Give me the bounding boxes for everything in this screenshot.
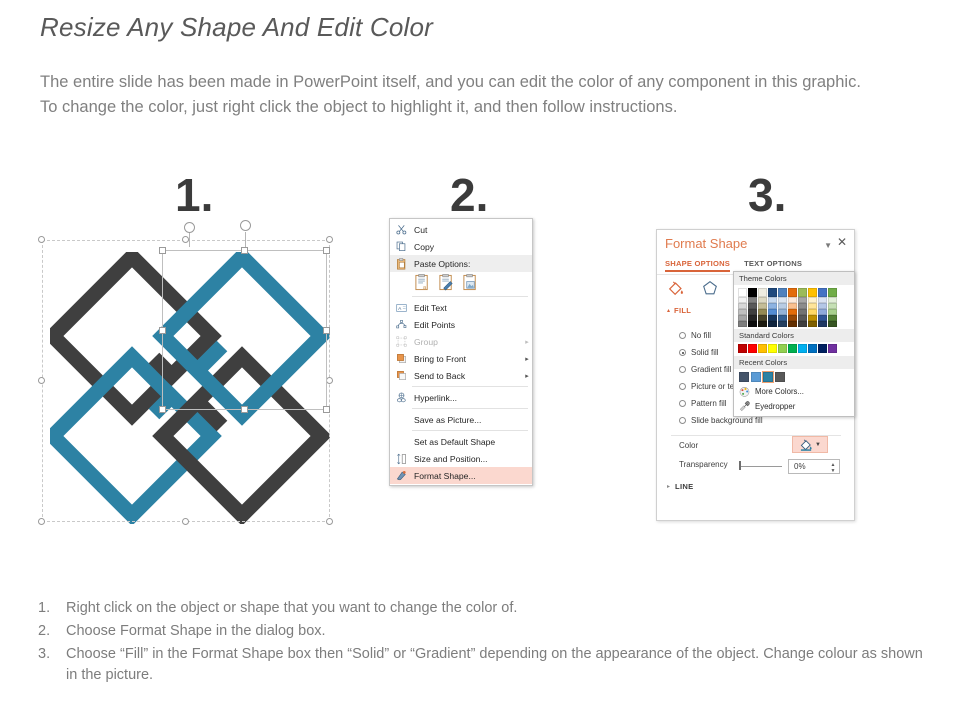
menu-item-label: Group xyxy=(414,337,522,347)
menu-item-bring-to-front[interactable]: Bring to Front ▸ xyxy=(390,350,532,367)
theme-color-column[interactable] xyxy=(828,288,837,327)
theme-colors-grid[interactable] xyxy=(734,285,854,329)
theme-color-column[interactable] xyxy=(738,288,747,327)
menu-item-edit-text[interactable]: A Edit Text xyxy=(390,299,532,316)
menu-item-group: Group ▸ xyxy=(390,333,532,350)
tab-shape-options[interactable]: SHAPE OPTIONS xyxy=(665,259,730,272)
fill-section-header[interactable]: ▴ FILL xyxy=(667,306,691,315)
color-swatch[interactable] xyxy=(808,344,817,353)
menu-separator xyxy=(412,386,528,387)
transparency-value: 0% xyxy=(794,462,806,471)
chevron-down-icon[interactable]: ▼ xyxy=(824,241,832,250)
color-swatch[interactable] xyxy=(788,344,797,353)
more-colors-label: More Colors... xyxy=(755,387,804,396)
menu-item-send-to-back[interactable]: Send to Back ▸ xyxy=(390,367,532,384)
radio-label: No fill xyxy=(691,331,711,340)
stepper-down-icon[interactable]: ▼ xyxy=(831,468,836,474)
selection-handle-se[interactable] xyxy=(326,518,333,525)
menu-separator xyxy=(412,296,528,297)
page-subtitle: The entire slide has been made in PowerP… xyxy=(40,70,870,120)
menu-item-label: Cut xyxy=(414,225,532,235)
menu-item-label: Bring to Front xyxy=(414,354,522,364)
color-swatch[interactable] xyxy=(768,344,777,353)
expand-triangle-icon[interactable]: ▴ xyxy=(667,307,670,314)
send-to-back-icon xyxy=(394,369,409,383)
color-swatch[interactable] xyxy=(818,288,827,297)
menu-item-cut[interactable]: Cut xyxy=(390,221,532,238)
selection-handle-ne[interactable] xyxy=(326,236,333,243)
no-icon xyxy=(394,413,409,427)
keep-source-formatting-icon[interactable]: a xyxy=(414,274,431,291)
rotation-stem-1 xyxy=(189,232,190,247)
color-swatch[interactable] xyxy=(808,288,817,297)
theme-color-column[interactable] xyxy=(778,288,787,327)
color-swatch[interactable] xyxy=(739,372,749,382)
paste-icon xyxy=(394,257,409,271)
eyedropper-label: Eyedropper xyxy=(755,402,795,411)
color-swatch[interactable] xyxy=(738,344,747,353)
submenu-arrow-icon: ▸ xyxy=(522,372,532,380)
format-shape-title: Format Shape xyxy=(665,236,747,251)
list-item-text: Right click on the object or shape that … xyxy=(66,598,938,619)
color-swatch[interactable] xyxy=(798,321,807,327)
color-picker-flyout[interactable]: Theme Colors Standard Colors Recent Colo… xyxy=(733,271,855,417)
list-item-number: 1. xyxy=(38,598,66,619)
color-swatch[interactable] xyxy=(763,372,773,382)
hyperlink-icon xyxy=(394,391,409,405)
collapse-triangle-icon[interactable]: ▸ xyxy=(667,483,670,490)
color-swatch[interactable] xyxy=(768,321,777,327)
menu-item-label: Hyperlink... xyxy=(414,393,532,403)
menu-item-label: Format Shape... xyxy=(414,471,532,481)
theme-color-column[interactable] xyxy=(748,288,757,327)
inner-handle-e[interactable] xyxy=(323,327,330,334)
more-colors-option[interactable]: More Colors... xyxy=(734,384,854,399)
list-item: 3. Choose “Fill” in the Format Shape box… xyxy=(38,644,938,686)
rotation-handle-2[interactable] xyxy=(240,220,251,231)
theme-colors-header: Theme Colors xyxy=(734,272,854,285)
color-swatch[interactable] xyxy=(798,344,807,353)
selection-handle-sw[interactable] xyxy=(38,518,45,525)
menu-item-paste-options[interactable]: Paste Options: xyxy=(390,255,532,272)
transparency-value-field[interactable]: 0% ▲ ▼ xyxy=(788,459,840,474)
fill-bucket-icon[interactable] xyxy=(667,279,685,299)
recent-colors-row[interactable] xyxy=(734,369,854,384)
submenu-arrow-icon: ▸ xyxy=(522,355,532,363)
effects-pentagon-icon[interactable] xyxy=(701,279,719,299)
color-label: Color xyxy=(679,441,698,450)
color-swatch[interactable] xyxy=(778,288,787,297)
picture-icon[interactable] xyxy=(462,274,479,291)
eyedropper-option[interactable]: Eyedropper xyxy=(734,399,854,414)
page-title: Resize Any Shape And Edit Color xyxy=(40,12,433,43)
inner-handle-s[interactable] xyxy=(241,406,248,413)
step-number-1: 1. xyxy=(175,172,213,218)
inner-selection-border xyxy=(162,250,327,410)
selection-handle-n[interactable] xyxy=(182,236,189,243)
menu-separator xyxy=(412,430,528,431)
radio-solid-fill[interactable]: Solid fill xyxy=(679,348,719,357)
color-swatch[interactable] xyxy=(778,321,787,327)
transparency-slider-track[interactable] xyxy=(740,466,782,467)
color-swatch[interactable] xyxy=(758,288,767,297)
radio-label: Pattern fill xyxy=(691,399,727,408)
radio-label: Slide background fill xyxy=(691,416,763,425)
group-icon xyxy=(394,335,409,349)
eyedropper-icon xyxy=(739,401,750,412)
menu-item-set-as-default-shape[interactable]: Set as Default Shape xyxy=(390,433,532,450)
rotation-stem-2 xyxy=(245,232,246,247)
selection-handle-e[interactable] xyxy=(326,377,333,384)
radio-gradient-fill[interactable]: Gradient fill xyxy=(679,365,731,374)
menu-item-label: Paste Options: xyxy=(414,259,532,269)
list-item-number: 2. xyxy=(38,621,66,642)
menu-item-label: Set as Default Shape xyxy=(414,437,532,447)
radio-no-fill[interactable]: No fill xyxy=(679,331,711,340)
list-item-text: Choose “Fill” in the Format Shape box th… xyxy=(66,644,938,686)
menu-item-label: Copy xyxy=(414,242,532,252)
theme-color-column[interactable] xyxy=(798,288,807,327)
color-swatch[interactable] xyxy=(738,288,747,297)
step-number-2: 2. xyxy=(450,172,488,218)
radio-indicator xyxy=(679,332,686,339)
color-swatch[interactable] xyxy=(748,321,757,327)
menu-item-label: Save as Picture... xyxy=(414,415,532,425)
inner-handle-ne[interactable] xyxy=(323,247,330,254)
bring-to-front-icon xyxy=(394,352,409,366)
selection-handle-nw[interactable] xyxy=(38,236,45,243)
color-swatch[interactable] xyxy=(751,372,761,382)
color-swatch[interactable] xyxy=(748,344,757,353)
shape-illustration-panel xyxy=(42,232,334,522)
menu-item-copy[interactable]: Copy xyxy=(390,238,532,255)
use-destination-theme-icon[interactable] xyxy=(438,274,455,291)
step-number-3: 3. xyxy=(748,172,786,218)
size-position-icon xyxy=(394,452,409,466)
radio-label: Gradient fill xyxy=(691,365,731,374)
menu-item-size-and-position[interactable]: Size and Position... xyxy=(390,450,532,467)
instructions-list: 1. Right click on the object or shape th… xyxy=(38,598,938,688)
scissors-icon xyxy=(394,223,409,237)
menu-item-label: Size and Position... xyxy=(414,454,532,464)
chevron-down-icon[interactable]: ▼ xyxy=(815,442,821,448)
color-swatch[interactable] xyxy=(818,344,827,353)
selection-handle-w[interactable] xyxy=(38,377,45,384)
list-item-text: Choose Format Shape in the dialog box. xyxy=(66,621,938,642)
paste-options-row[interactable]: a xyxy=(390,272,532,294)
fill-bucket-icon xyxy=(799,438,814,451)
radio-slide-background-fill[interactable]: Slide background fill xyxy=(679,416,763,425)
radio-label: Solid fill xyxy=(691,348,719,357)
no-icon xyxy=(394,435,409,449)
submenu-arrow-icon: ▸ xyxy=(522,338,532,346)
color-swatch[interactable] xyxy=(748,288,757,297)
menu-item-label: Edit Text xyxy=(414,303,532,313)
radio-indicator xyxy=(679,383,686,390)
menu-item-label: Send to Back xyxy=(414,371,522,381)
format-shape-icon xyxy=(394,469,409,483)
selection-handle-s[interactable] xyxy=(182,518,189,525)
theme-color-column[interactable] xyxy=(808,288,817,327)
color-swatch[interactable] xyxy=(798,288,807,297)
color-swatch[interactable] xyxy=(738,321,747,327)
edit-text-icon: A xyxy=(394,301,409,315)
theme-color-column[interactable] xyxy=(818,288,827,327)
color-swatch[interactable] xyxy=(808,321,817,327)
line-section-header[interactable]: ▸ LINE xyxy=(667,482,694,491)
recent-colors-header: Recent Colors xyxy=(734,356,854,369)
color-swatch[interactable] xyxy=(758,344,767,353)
color-swatch[interactable] xyxy=(788,321,797,327)
edit-points-icon xyxy=(394,318,409,332)
radio-indicator xyxy=(679,349,686,356)
color-swatch[interactable] xyxy=(778,344,787,353)
radio-pattern-fill[interactable]: Pattern fill xyxy=(679,399,727,408)
list-item: 2. Choose Format Shape in the dialog box… xyxy=(38,621,938,642)
transparency-label: Transparency xyxy=(679,460,728,469)
copy-icon xyxy=(394,240,409,254)
line-section-label: LINE xyxy=(675,482,694,491)
inner-handle-nw[interactable] xyxy=(159,247,166,254)
standard-colors-header: Standard Colors xyxy=(734,329,854,342)
list-item-number: 3. xyxy=(38,644,66,686)
menu-item-format-shape[interactable]: Format Shape... xyxy=(390,467,532,484)
context-menu[interactable]: Cut Copy Paste Options: a A Edit Text xyxy=(389,218,533,486)
standard-colors-row[interactable] xyxy=(734,342,854,356)
radio-indicator xyxy=(679,366,686,373)
theme-color-column[interactable] xyxy=(788,288,797,327)
theme-color-column[interactable] xyxy=(768,288,777,327)
inner-handle-se[interactable] xyxy=(323,406,330,413)
radio-indicator xyxy=(679,417,686,424)
color-swatch[interactable] xyxy=(758,321,767,327)
inner-handle-sw[interactable] xyxy=(159,406,166,413)
color-swatch[interactable] xyxy=(775,372,785,382)
transparency-slider-knob[interactable] xyxy=(739,461,741,470)
rotation-handle-1[interactable] xyxy=(184,222,195,233)
menu-item-label: Edit Points xyxy=(414,320,532,330)
color-swatch[interactable] xyxy=(768,288,777,297)
color-swatch-button[interactable]: ▼ xyxy=(792,436,828,453)
inner-handle-w[interactable] xyxy=(159,327,166,334)
palette-icon xyxy=(739,386,750,397)
transparency-stepper[interactable]: ▲ ▼ xyxy=(829,461,837,474)
color-swatch[interactable] xyxy=(828,288,837,297)
color-swatch[interactable] xyxy=(828,344,837,353)
color-swatch[interactable] xyxy=(818,321,827,327)
menu-item-hyperlink[interactable]: Hyperlink... xyxy=(390,389,532,406)
radio-indicator xyxy=(679,400,686,407)
format-shape-pane[interactable]: Format Shape ▼ ✕ SHAPE OPTIONS TEXT OPTI… xyxy=(656,229,855,521)
menu-item-save-as-picture[interactable]: Save as Picture... xyxy=(390,411,532,428)
theme-color-column[interactable] xyxy=(758,288,767,327)
menu-item-edit-points[interactable]: Edit Points xyxy=(390,316,532,333)
menu-separator xyxy=(412,408,528,409)
close-icon[interactable]: ✕ xyxy=(837,236,847,248)
list-item: 1. Right click on the object or shape th… xyxy=(38,598,938,619)
color-swatch[interactable] xyxy=(788,288,797,297)
color-swatch[interactable] xyxy=(828,321,837,327)
inner-handle-n[interactable] xyxy=(241,247,248,254)
fill-section-label: FILL xyxy=(674,306,691,315)
